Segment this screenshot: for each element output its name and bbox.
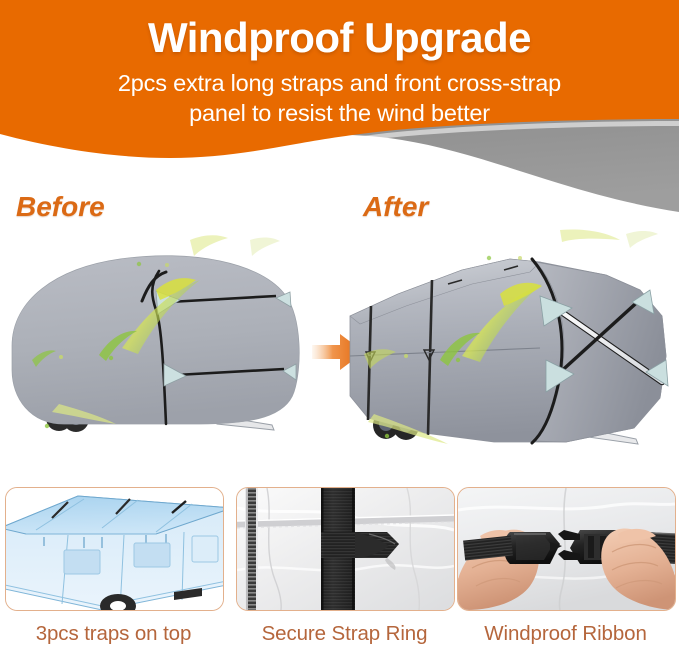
wind-dot (404, 354, 408, 358)
wind-dot (487, 256, 491, 260)
after-illustration (344, 228, 679, 468)
wind-dot (385, 434, 389, 438)
panel-caption: Secure Strap Ring (236, 611, 453, 646)
panel-image-frame (236, 487, 455, 611)
panel-image-frame (457, 487, 676, 611)
wind-dot (59, 355, 63, 359)
feature-panels: 3pcs traps on top (0, 487, 679, 666)
infographic-page: Windproof Upgrade 2pcs extra long straps… (0, 0, 679, 666)
before-rv-cover-drawing (4, 228, 334, 468)
wind-dot (109, 356, 113, 360)
feature-panel: Secure Strap Ring (236, 487, 453, 646)
feature-panel: Windproof Ribbon (457, 487, 674, 646)
wind-swoosh (626, 231, 658, 248)
panel-image-frame (5, 487, 224, 611)
wind-dot (45, 424, 49, 428)
wind-dot (456, 358, 460, 362)
before-label: Before (16, 191, 105, 223)
panel-caption: Windproof Ribbon (457, 611, 674, 646)
wind-swoosh (250, 237, 280, 256)
rv-roof-straps-illustration (6, 488, 223, 610)
after-rv-cover-drawing (344, 228, 679, 468)
feature-panel: 3pcs traps on top (5, 487, 222, 646)
cover-body (12, 256, 299, 424)
after-label: After (363, 191, 428, 223)
buckle-photo (458, 488, 675, 610)
wind-dot (518, 256, 522, 260)
before-illustration (4, 228, 334, 468)
wind-dot (165, 263, 169, 267)
wind-swoosh (560, 229, 620, 242)
wind-swoosh (190, 235, 228, 256)
strap-ring-photo (237, 488, 454, 610)
wind-dot (137, 262, 141, 266)
panel-caption: 3pcs traps on top (5, 611, 222, 646)
